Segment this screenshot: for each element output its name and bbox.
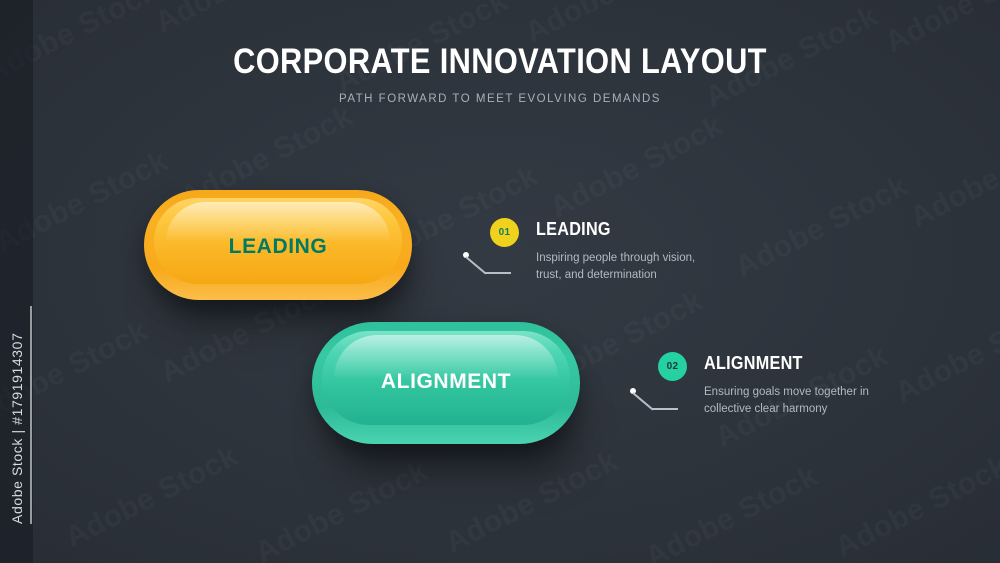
watermark-text: Adobe Stock [250, 454, 434, 563]
watermark-text: Adobe Stock [60, 439, 244, 555]
callout-leading-body: Inspiring people through vision, trust, … [536, 250, 718, 283]
badge-02: 02 [658, 352, 687, 381]
credit-rule [30, 306, 32, 524]
connector-alignment [630, 388, 700, 418]
pill-leading-label: LEADING [144, 235, 412, 259]
connector-alignment-diagonal [632, 392, 653, 410]
badge-01-number: 01 [499, 227, 511, 238]
badge-02-number: 02 [667, 361, 679, 372]
watermark-text: Adobe Stock [545, 109, 729, 225]
watermark-text: Adobe Stock [150, 0, 334, 40]
watermark-text: Adobe Stock [640, 459, 824, 563]
pill-leading[interactable]: LEADING [144, 190, 412, 300]
pill-alignment-label: ALIGNMENT [312, 370, 580, 394]
page-subtitle: PATH FORWARD TO MEET EVOLVING DEMANDS [0, 93, 1000, 105]
connector-leading [463, 252, 533, 282]
watermark-text: Adobe Stock [905, 119, 1000, 235]
callout-leading-heading: LEADING [536, 219, 611, 240]
page-title: CORPORATE INNOVATION LAYOUT [60, 44, 940, 81]
header: CORPORATE INNOVATION LAYOUT PATH FORWARD… [0, 44, 1000, 105]
watermark-text: Adobe Stock [830, 449, 1000, 563]
credit-label: Adobe Stock | #1791914307 [9, 102, 25, 312]
callout-alignment-body: Ensuring goals move together in collecti… [704, 384, 886, 417]
callout-alignment-heading: ALIGNMENT [704, 353, 803, 374]
pill-alignment[interactable]: ALIGNMENT [312, 322, 580, 444]
watermark-text: Adobe Stock [890, 294, 1000, 410]
infographic-canvas: Adobe StockAdobe StockAdobe StockAdobe S… [0, 0, 1000, 563]
connector-leading-diagonal [465, 256, 486, 274]
watermark-text: Adobe Stock [730, 169, 914, 285]
connector-alignment-horizontal [652, 408, 678, 410]
badge-01: 01 [490, 218, 519, 247]
credit-label-text: Adobe Stock | #1791914307 [9, 314, 25, 524]
connector-leading-horizontal [485, 272, 511, 274]
